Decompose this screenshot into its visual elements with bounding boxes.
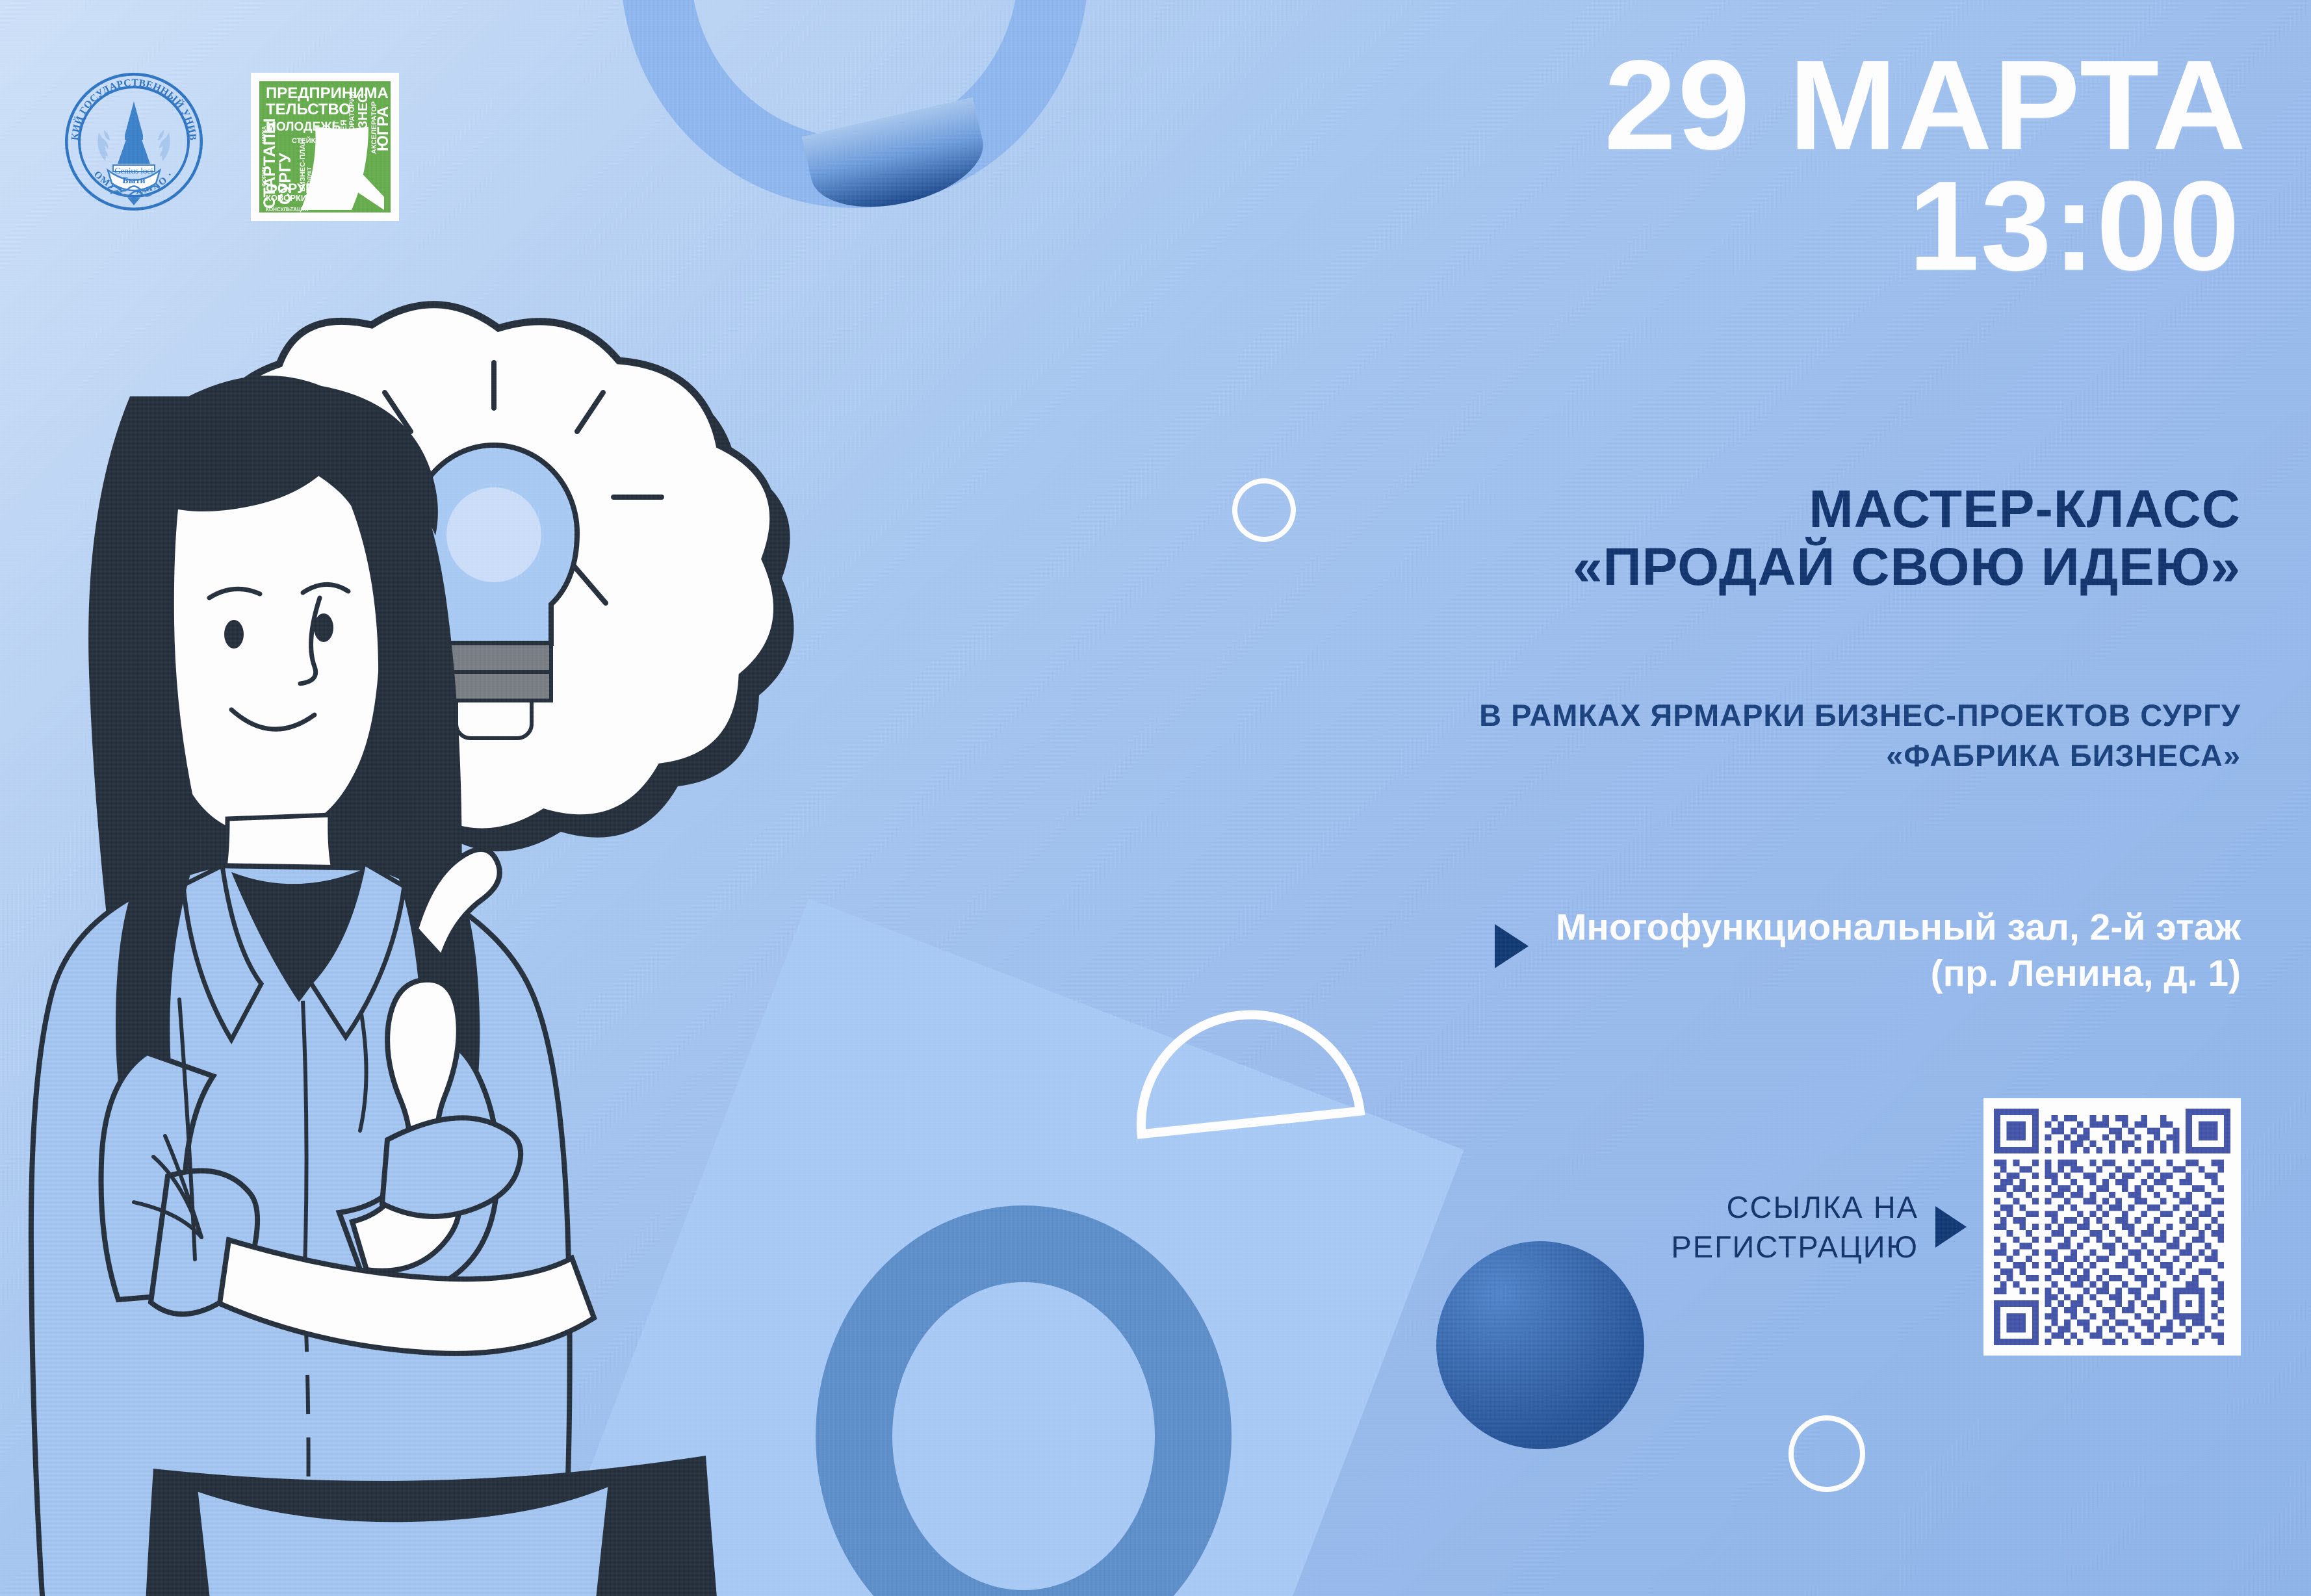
event-time: 13:00 <box>1610 168 2241 285</box>
registration-block[interactable]: ССЫЛКА НА РЕГИСТРАЦИЮ <box>1671 1098 2241 1356</box>
circle-outline-shape-2 <box>1788 1415 1865 1492</box>
qr-code-icon[interactable] <box>1983 1098 2241 1356</box>
svg-text:ИДЕЯ: ИДЕЯ <box>339 120 348 144</box>
registration-label-line2: РЕГИСТРАЦИЮ <box>1671 1227 1918 1267</box>
event-poster: СУРГУТСКИЙ ГОСУДАРСТВЕННЫЙ УНИВЕРСИТЕТ О… <box>0 0 2311 1596</box>
svg-text:ТЕЛЬСТВО: ТЕЛЬСТВО <box>266 101 351 118</box>
venue-line1: Многофункциональный зал, 2-й этаж <box>1556 905 2241 951</box>
event-date: 29 МАРТА <box>1604 47 2247 164</box>
headline: 29 МАРТА 13:00 <box>1610 47 2241 285</box>
circle-outline-shape-1 <box>1232 478 1296 542</box>
event-context: В РАМКАХ ЯРМАРКИ БИЗНЕС-ПРОЕКТОВ СУРГУ «… <box>1479 695 2241 776</box>
deep-blue-blob-shape <box>1436 1241 1644 1449</box>
predprinimatelstvo-logo-icon: ПРЕДПРИНИМА ТЕЛЬСТВО МОЛОДЕЖЬ СТЕЙКХОЛДЕ… <box>251 73 399 221</box>
svg-text:БИЗНЕС: БИЗНЕС <box>356 93 370 148</box>
venue-line2: (пр. Ленина, д. 1) <box>1556 951 2241 997</box>
svg-text:Genius loci: Genius loci <box>114 166 153 175</box>
triangle-right-icon <box>1495 924 1529 968</box>
event-title-line1: МАСТЕР-КЛАСС <box>1573 481 2241 539</box>
event-context-line2: «ФАБРИКА БИЗНЕСА» <box>1479 736 2241 776</box>
event-title: МАСТЕР-КЛАСС «ПРОДАЙ СВОЮ ИДЕЮ» <box>1573 481 2241 596</box>
logo-row: СУРГУТСКИЙ ГОСУДАРСТВЕННЫЙ УНИВЕРСИТЕТ О… <box>65 73 399 221</box>
event-context-line1: В РАМКАХ ЯРМАРКИ БИЗНЕС-ПРОЕКТОВ СУРГУ <box>1479 695 2241 736</box>
venue-text: Многофункциональный зал, 2-й этаж (пр. Л… <box>1556 905 2241 996</box>
registration-label-line1: ССЫЛКА НА <box>1671 1187 1918 1227</box>
svg-text:ЮГРА: ЮГРА <box>374 106 391 151</box>
arch-outline-shape <box>1126 999 1365 1139</box>
thinking-woman-illustration <box>0 247 1105 1596</box>
svg-text:СУРГУ: СУРГУ <box>276 153 294 205</box>
svg-text:ФОРУМ: ФОРУМ <box>266 181 317 196</box>
triangle-right-icon <box>1935 1206 1967 1248</box>
venue-block: Многофункциональный зал, 2-й этаж (пр. Л… <box>1495 905 2241 996</box>
svg-text:ЛАБОРАТОРИЯ: ЛАБОРАТОРИЯ <box>348 92 356 146</box>
svg-text:Быти: Быти <box>122 176 145 186</box>
registration-label: ССЫЛКА НА РЕГИСТРАЦИЮ <box>1671 1187 1918 1267</box>
event-title-line2: «ПРОДАЙ СВОЮ ИДЕЮ» <box>1573 539 2241 597</box>
surgu-seal-icon: СУРГУТСКИЙ ГОСУДАРСТВЕННЫЙ УНИВЕРСИТЕТ О… <box>65 73 203 211</box>
